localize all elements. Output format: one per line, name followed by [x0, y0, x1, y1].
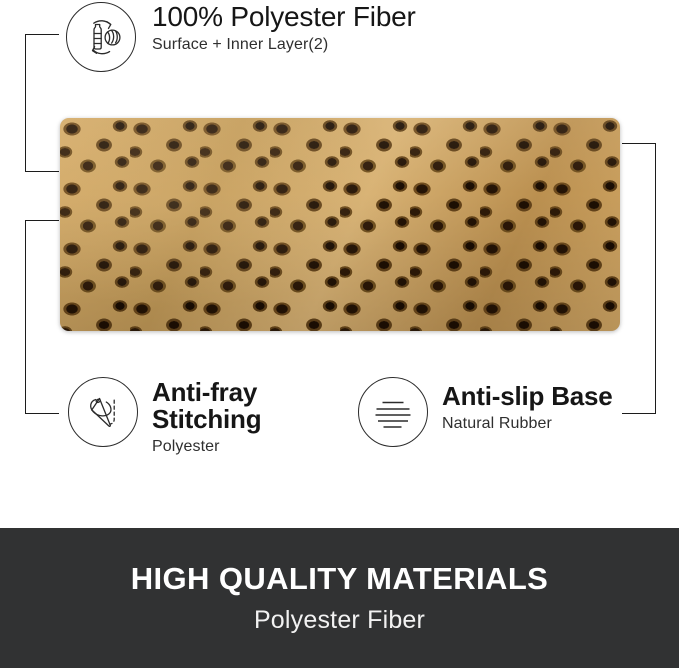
feature-antislip-text: Anti-slip Base Natural Rubber [442, 377, 613, 435]
feature-polyester-text: 100% Polyester Fiber Surface + Inner Lay… [152, 2, 416, 56]
product-image-leopard-mat [60, 118, 620, 331]
bracket-right [622, 143, 656, 414]
feature-stitching-title: Anti-fray Stitching [152, 379, 261, 433]
product-infographic: 100% Polyester Fiber Surface + Inner Lay… [0, 0, 679, 668]
bottom-banner: HIGH QUALITY MATERIALS Polyester Fiber [0, 528, 679, 668]
feature-polyester-subtitle: Surface + Inner Layer(2) [152, 35, 416, 56]
feature-antislip-subtitle: Natural Rubber [442, 414, 613, 435]
feature-anti-fray-stitching: Anti-fray Stitching Polyester [68, 377, 261, 458]
mat-lighting-overlay [60, 118, 620, 331]
needle-thread-icon [68, 377, 138, 447]
feature-antislip-title: Anti-slip Base [442, 383, 613, 410]
feature-stitching-text: Anti-fray Stitching Polyester [152, 377, 261, 458]
feature-polyester-fiber: 100% Polyester Fiber Surface + Inner Lay… [66, 2, 416, 72]
feature-anti-slip-base: Anti-slip Base Natural Rubber [358, 377, 613, 447]
banner-headline: HIGH QUALITY MATERIALS [131, 562, 549, 596]
recycle-bottle-yarn-icon [66, 2, 136, 72]
feature-polyester-title: 100% Polyester Fiber [152, 2, 416, 31]
horizontal-lines-icon [358, 377, 428, 447]
bracket-bottom-left [25, 220, 59, 414]
feature-stitching-subtitle: Polyester [152, 437, 261, 458]
bracket-top-left [25, 34, 59, 172]
banner-subline: Polyester Fiber [254, 607, 425, 635]
